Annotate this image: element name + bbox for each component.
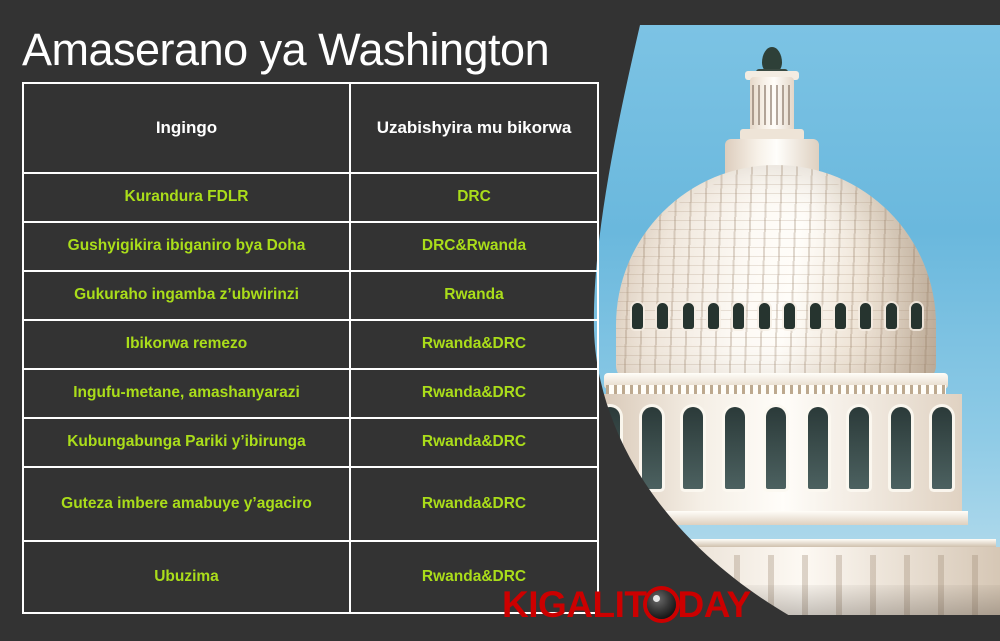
peristyle-window (932, 407, 952, 489)
table-header-row: Ingingo Uzabishyira mu bikorwa (23, 83, 598, 173)
dome-window (632, 303, 643, 329)
cell-implementer: DRC&Rwanda (350, 222, 598, 271)
dome-window (886, 303, 897, 329)
peristyle-window (849, 407, 869, 489)
table-row: Ingufu-metane, amashanyarazi Rwanda&DRC (23, 369, 598, 418)
dome-window (860, 303, 871, 329)
lantern-columns (752, 85, 792, 125)
table-row: Gushyigikira ibiganiro bya Doha DRC&Rwan… (23, 222, 598, 271)
peristyle-window (808, 407, 828, 489)
cell-topic: Gukuraho ingamba z’ubwirinzi (23, 271, 350, 320)
peristyle-window (683, 407, 703, 489)
cell-implementer: Rwanda&DRC (350, 320, 598, 369)
cell-implementer: Rwanda (350, 271, 598, 320)
peristyle-window (766, 407, 786, 489)
dome-window (683, 303, 694, 329)
slide-canvas: Amaserano ya Washington Ingingo Uzabishy… (0, 0, 1000, 641)
cell-topic: Ubuzima (23, 541, 350, 613)
cell-topic: Kurandura FDLR (23, 173, 350, 222)
dome-window (657, 303, 668, 329)
dome-window (810, 303, 821, 329)
peristyle-window (891, 407, 911, 489)
peristyle-window (642, 407, 662, 489)
cell-topic: Guteza imbere amabuye y’agaciro (23, 467, 350, 541)
peristyle-window (725, 407, 745, 489)
cell-topic: Ingufu-metane, amashanyarazi (23, 369, 350, 418)
dome-window (835, 303, 846, 329)
cell-implementer: Rwanda&DRC (350, 467, 598, 541)
column-header-topic: Ingingo (23, 83, 350, 173)
dome-window-row (632, 301, 922, 331)
dome-window (784, 303, 795, 329)
cell-implementer: Rwanda&DRC (350, 369, 598, 418)
watermark-text-before: KIGALIT (502, 586, 646, 623)
dome-window (759, 303, 770, 329)
balustrade-rail (566, 539, 996, 547)
page-title: Amaserano ya Washington (22, 24, 549, 76)
dome-window (733, 303, 744, 329)
dome-window (911, 303, 922, 329)
watermark-text-after: DAY (677, 586, 750, 623)
dome-dentils (606, 385, 946, 394)
capitol-dome-illustration (560, 25, 1000, 615)
peristyle-window (600, 407, 620, 489)
cell-topic: Gushyigikira ibiganiro bya Doha (23, 222, 350, 271)
peristyle-base (584, 511, 968, 525)
cell-implementer: Rwanda&DRC (350, 418, 598, 467)
dome-window (708, 303, 719, 329)
table-row: Kurandura FDLR DRC (23, 173, 598, 222)
eye-logo-icon (647, 590, 676, 619)
table-row: Gukuraho ingamba z’ubwirinzi Rwanda (23, 271, 598, 320)
agreement-table: Ingingo Uzabishyira mu bikorwa Kurandura… (22, 82, 599, 614)
kigalitoday-watermark: KIGALIT DAY (502, 586, 751, 623)
cell-topic: Ibikorwa remezo (23, 320, 350, 369)
table-row: Guteza imbere amabuye y’agaciro Rwanda&D… (23, 467, 598, 541)
cell-topic: Kubungabunga Pariki y’ibirunga (23, 418, 350, 467)
capitol-photo (560, 25, 1000, 615)
table-row: Kubungabunga Pariki y’ibirunga Rwanda&DR… (23, 418, 598, 467)
column-header-implementer: Uzabishyira mu bikorwa (350, 83, 598, 173)
dome-bands (616, 175, 936, 370)
table-row: Ibikorwa remezo Rwanda&DRC (23, 320, 598, 369)
cell-implementer: DRC (350, 173, 598, 222)
peristyle-window-row (600, 407, 952, 499)
